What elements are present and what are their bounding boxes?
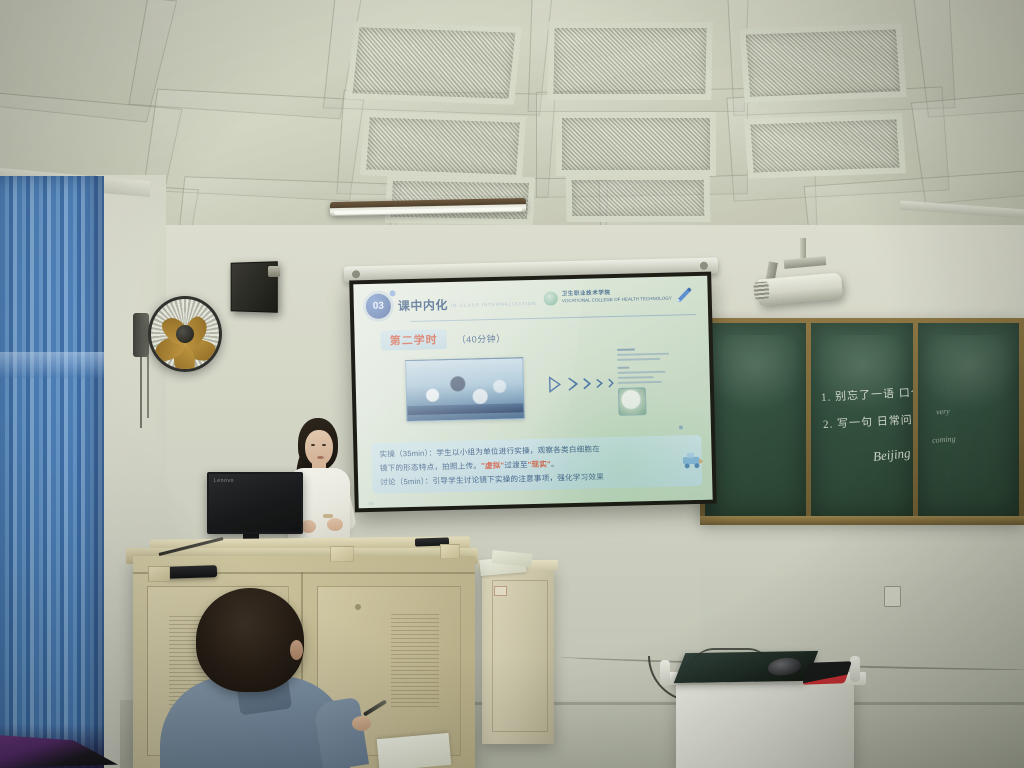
slide-content: 03 课中内化IN-CLASS INTERNALIZATION 卫生职业技术学院…: [353, 276, 712, 509]
slide-accent-dot: [679, 425, 683, 429]
ceiling-vent: [360, 111, 526, 181]
chalk-signature: Beijing: [873, 445, 912, 465]
chalk-word-coming: coming: [931, 434, 955, 445]
lab-students-photo: [405, 357, 524, 422]
mobile-phone[interactable]: [802, 661, 852, 684]
presenter-mouth: [317, 456, 324, 459]
chalkboard-panel-center: 1. 别忘了一语 口个人简介。 2. 写一句 日常问候。 Beijing: [811, 323, 912, 517]
ceiling-vent: [547, 22, 712, 100]
header-divider: [410, 314, 696, 322]
monitor-brand-label: Lenovo: [214, 478, 234, 484]
presenter-hand: [327, 518, 343, 531]
speaker-mount: [268, 266, 280, 277]
wood-block: [148, 566, 170, 582]
presenter-hand: [301, 520, 316, 533]
fan-pull-cord[interactable]: [147, 356, 149, 418]
chalkboard-panel-right: very coming: [918, 323, 1019, 517]
observer-hand: [352, 716, 371, 731]
classroom-photo: 1. 别忘了一语 口个人简介。 2. 写一句 日常问候。 Beijing ver…: [0, 0, 1024, 768]
projector-lens-icon: [753, 281, 769, 299]
chalk-line-2: 2. 写一句 日常问候。: [823, 410, 913, 432]
presenter-remote[interactable]: [165, 565, 217, 579]
section-badge: 03: [366, 293, 392, 319]
wall-socket[interactable]: [884, 586, 901, 607]
brand-logo-icon: [544, 291, 558, 305]
brand-sub: VOCATIONAL COLLEGE OF HEALTH TECHNOLOGY: [562, 296, 672, 304]
slide-textbox: 实操（35min）：学生以小组为单位进行实操，观察各类白细胞在 镜下的形态特点，…: [371, 435, 702, 494]
slide-title-subtext: IN-CLASS INTERNALIZATION: [451, 300, 537, 307]
chalk-tray: [700, 516, 1024, 525]
presenter-face: [305, 430, 333, 466]
pencil-icon: [674, 286, 693, 305]
side-cabinet-label: [494, 586, 507, 596]
mobile-upload-mockup: [617, 347, 679, 420]
podium-latch[interactable]: [355, 604, 361, 610]
microscope-cart-icon: [679, 450, 705, 471]
slide-title-wrap: 课中内化IN-CLASS INTERNALIZATION: [398, 293, 537, 314]
chevron-arrows-icon: [546, 373, 617, 395]
lesson-tag: 第二学时: [380, 329, 446, 351]
slide-title: 课中内化: [398, 298, 448, 313]
brand-lockup: 卫生职业技术学院 VOCATIONAL COLLEGE OF HEALTH TE…: [544, 288, 672, 306]
curtain-highlight: [0, 352, 104, 378]
ceiling-vent: [566, 174, 711, 222]
fan-pull-cord[interactable]: [140, 356, 142, 428]
laptop-cable: [690, 648, 772, 672]
observer-head: [196, 588, 304, 692]
observer-ear: [290, 640, 303, 660]
ceiling-vent: [346, 21, 522, 105]
wood-block: [330, 546, 354, 562]
fan-hub: [176, 325, 194, 343]
podium-notice: [391, 614, 439, 710]
wall-fan-icon[interactable]: [148, 296, 222, 372]
brand-name: 卫生职业技术学院: [562, 290, 611, 297]
observer-notebook: [377, 733, 452, 768]
ceiling-vent: [744, 113, 906, 179]
chalk-word-very: very: [935, 407, 949, 417]
desktop-monitor[interactable]: Lenovo: [207, 472, 303, 534]
window-curtain[interactable]: [0, 176, 104, 768]
slide-middle: [367, 351, 699, 437]
section-number: 03: [373, 301, 384, 312]
lesson-duration: （40分钟）: [457, 331, 506, 345]
chalkboard-panel-left: [705, 323, 806, 517]
chalkboard: 1. 别忘了一语 口个人简介。 2. 写一句 日常问候。 Beijing ver…: [700, 318, 1024, 522]
stand-rail: [660, 660, 670, 686]
ceiling-vent: [556, 112, 716, 176]
lab-bench: [407, 403, 523, 415]
slide-header: 03 课中内化IN-CLASS INTERNALIZATION 卫生职业技术学院…: [366, 286, 697, 319]
slide-footer-right: · · ·: [688, 493, 705, 498]
brand-text: 卫生职业技术学院 VOCATIONAL COLLEGE OF HEALTH TE…: [562, 288, 672, 306]
fan-bracket: [133, 313, 149, 357]
wood-block: [440, 544, 460, 559]
slide-footer-left: 04: [369, 501, 374, 506]
lesson-row: 第二学时 （40分钟）: [366, 323, 696, 351]
badge-dot-icon: [389, 290, 395, 296]
stand-rail: [850, 656, 860, 682]
ceiling-vent: [739, 23, 906, 103]
projection-screen: 03 课中内化IN-CLASS INTERNALIZATION 卫生职业技术学院…: [349, 272, 717, 513]
side-cabinet-door[interactable]: [492, 580, 548, 732]
cell-image-thumbnail: [618, 387, 647, 416]
equipment-stand: [676, 680, 854, 768]
